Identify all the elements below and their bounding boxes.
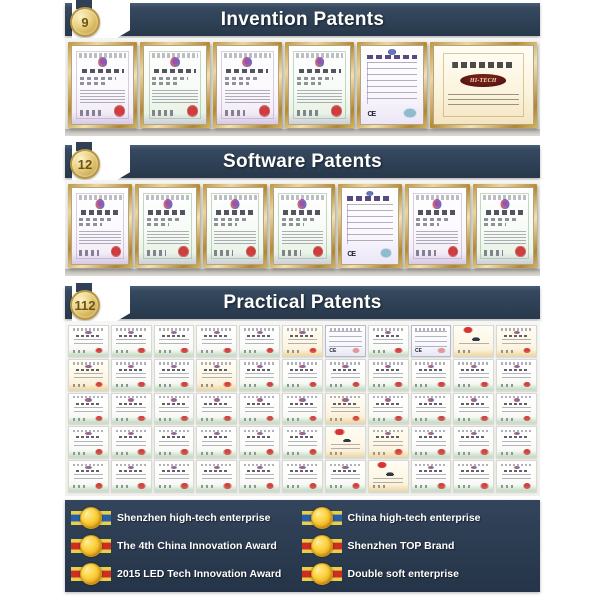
mini-certificate[interactable] [453, 359, 494, 391]
mini-certificate[interactable] [154, 393, 195, 425]
certificate-row: CE [65, 180, 540, 276]
framed-certificate[interactable] [473, 184, 537, 268]
mini-certificate[interactable] [368, 325, 409, 357]
mini-certificate[interactable] [111, 393, 152, 425]
medal-icon [302, 563, 342, 585]
framed-certificate[interactable] [285, 42, 354, 128]
section-header: Software Patents 12 [0, 142, 600, 180]
mini-certificate[interactable] [411, 359, 452, 391]
mini-certificate[interactable] [282, 460, 323, 492]
certificate-row: CE HI-TECH [65, 38, 540, 136]
medal-icon [71, 535, 111, 557]
count-badge: 112 [70, 290, 100, 320]
section-software-patents: Software Patents 12 CE [0, 142, 600, 180]
medal-icon [71, 507, 111, 529]
mini-certificate[interactable] [368, 359, 409, 391]
award-item[interactable]: 2015 LED Tech Innovation Award [71, 560, 302, 588]
mini-certificate[interactable] [325, 393, 366, 425]
mini-certificate[interactable] [453, 325, 494, 357]
mini-certificate[interactable] [282, 325, 323, 357]
framed-certificate[interactable] [140, 42, 209, 128]
award-label: Double soft enterprise [348, 568, 459, 580]
award-label: Shenzhen TOP Brand [348, 540, 455, 552]
mini-certificate[interactable] [239, 426, 280, 458]
mini-certificate[interactable] [282, 393, 323, 425]
medal-icon [71, 563, 111, 585]
medal-coin [311, 563, 333, 585]
mini-certificate[interactable] [111, 325, 152, 357]
practical-patents-grid-wrap: CECE [65, 321, 540, 496]
practical-patents-grid: CECE [65, 321, 540, 496]
certificate-shelf: CE HI-TECH [65, 38, 540, 136]
section-title: Practical Patents [65, 286, 540, 319]
count-badge: 12 [70, 149, 100, 179]
award-item[interactable]: Double soft enterprise [302, 560, 533, 588]
mini-certificate[interactable] [68, 426, 109, 458]
framed-certificate[interactable] [203, 184, 267, 268]
mini-certificate[interactable] [411, 426, 452, 458]
section-header: Invention Patents 9 [0, 0, 600, 38]
mini-certificate[interactable] [196, 325, 237, 357]
medal-coin [80, 535, 102, 557]
mini-certificate[interactable] [154, 359, 195, 391]
mini-certificate[interactable] [411, 460, 452, 492]
mini-certificate[interactable] [111, 426, 152, 458]
section-invention-patents: Invention Patents 9 CE HI-TECH [0, 0, 600, 38]
mini-certificate[interactable] [68, 359, 109, 391]
award-label: 2015 LED Tech Innovation Award [117, 568, 281, 580]
mini-certificate[interactable] [453, 460, 494, 492]
award-label: China high-tech enterprise [348, 512, 481, 524]
shelf-shadow [65, 129, 540, 136]
framed-certificate[interactable] [405, 184, 469, 268]
mini-certificate[interactable]: CE [325, 325, 366, 357]
mini-certificate[interactable] [496, 426, 537, 458]
award-item[interactable]: China high-tech enterprise [302, 504, 533, 532]
framed-certificate-ce[interactable]: CE [338, 184, 402, 268]
framed-certificate-hitech[interactable]: HI-TECH [430, 42, 537, 128]
framed-certificate[interactable] [68, 42, 137, 128]
certificate-shelf: CE [65, 180, 540, 276]
medal-icon [302, 535, 342, 557]
mini-certificate[interactable] [453, 393, 494, 425]
mini-certificate[interactable] [239, 393, 280, 425]
mini-certificate[interactable] [154, 325, 195, 357]
certificates-page: Invention Patents 9 CE HI-TECH Software … [0, 0, 600, 600]
mini-certificate[interactable] [453, 426, 494, 458]
medal-icon [302, 507, 342, 529]
framed-certificate[interactable] [213, 42, 282, 128]
award-item[interactable]: Shenzhen high-tech enterprise [71, 504, 302, 532]
mini-certificate[interactable] [368, 393, 409, 425]
medal-coin [311, 535, 333, 557]
mini-certificate[interactable] [68, 393, 109, 425]
framed-certificate[interactable] [68, 184, 132, 268]
mini-certificate[interactable] [196, 393, 237, 425]
mini-certificate[interactable] [196, 359, 237, 391]
framed-certificate-ce[interactable]: CE [357, 42, 426, 128]
mini-certificate[interactable] [111, 460, 152, 492]
section-practical-patents: Practical Patents 112 [0, 283, 600, 321]
mini-certificate[interactable] [239, 325, 280, 357]
mini-certificate[interactable] [111, 359, 152, 391]
mini-certificate[interactable] [154, 426, 195, 458]
ce-mark: CE [347, 251, 355, 258]
section-title: Software Patents [65, 145, 540, 178]
award-item[interactable]: Shenzhen TOP Brand [302, 532, 533, 560]
mini-certificate[interactable] [496, 325, 537, 357]
mini-certificate[interactable] [496, 460, 537, 492]
mini-certificate[interactable] [325, 460, 366, 492]
award-label: Shenzhen high-tech enterprise [117, 512, 270, 524]
mini-certificate[interactable] [368, 460, 409, 492]
mini-certificate[interactable] [368, 426, 409, 458]
mini-certificate[interactable] [325, 359, 366, 391]
awards-panel: Shenzhen high-tech enterpriseChina high-… [65, 500, 540, 592]
framed-certificate[interactable] [270, 184, 334, 268]
mini-certificate[interactable] [196, 460, 237, 492]
hitech-oval-label: HI-TECH [460, 74, 506, 87]
award-label: The 4th China Innovation Award [117, 540, 277, 552]
mini-certificate[interactable]: CE [411, 325, 452, 357]
count-badge: 9 [70, 7, 100, 37]
mini-certificate[interactable] [325, 426, 366, 458]
shelf-shadow [65, 269, 540, 276]
mini-certificate[interactable] [68, 325, 109, 357]
mini-certificate[interactable] [282, 359, 323, 391]
mini-certificate[interactable] [496, 359, 537, 391]
mini-certificate[interactable] [239, 460, 280, 492]
award-item[interactable]: The 4th China Innovation Award [71, 532, 302, 560]
mini-certificate[interactable] [496, 393, 537, 425]
medal-coin [80, 507, 102, 529]
medal-coin [311, 507, 333, 529]
mini-certificate[interactable] [154, 460, 195, 492]
ce-mark: CE [367, 111, 375, 118]
section-title: Invention Patents [65, 3, 540, 36]
mini-certificate[interactable] [196, 426, 237, 458]
framed-certificate[interactable] [135, 184, 199, 268]
mini-certificate[interactable] [282, 426, 323, 458]
mini-certificate[interactable] [239, 359, 280, 391]
medal-coin [80, 563, 102, 585]
section-header: Practical Patents 112 [0, 283, 600, 321]
mini-certificate[interactable] [68, 460, 109, 492]
mini-certificate[interactable] [411, 393, 452, 425]
